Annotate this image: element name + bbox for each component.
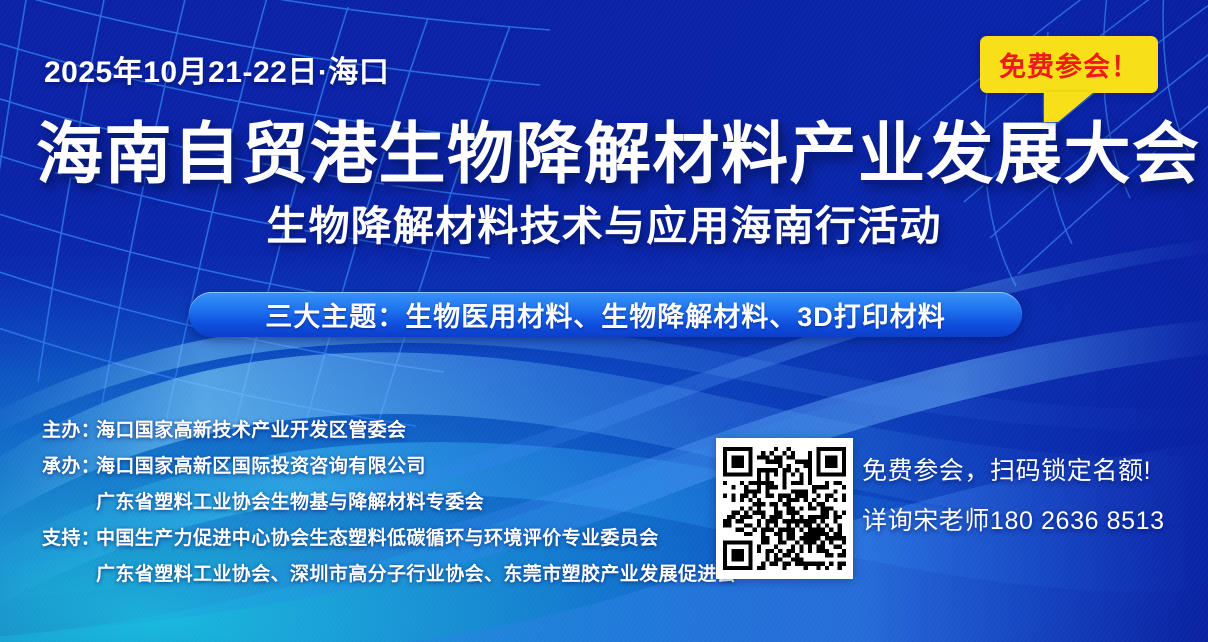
- page-title: 海南自贸港生物降解材料产业发展大会: [36, 121, 1201, 188]
- list-item: 支持： 中国生产力促进中心协会生态塑料低碳循环与环境评价专业委员会: [42, 523, 736, 559]
- organizer-name: 海口国家高新技术产业开发区管委会: [96, 415, 406, 442]
- themes-banner: 三大主题：生物医用材料、生物降解材料、3D打印材料: [189, 292, 1022, 337]
- organizers-list: 主办： 海口国家高新技术产业开发区管委会 承办： 海口国家高新区国际投资咨询有限…: [42, 415, 736, 595]
- free-admission-badge-label: 免费参会！: [999, 45, 1139, 84]
- organizer-name: 广东省塑料工业协会生物基与降解材料专委会: [96, 487, 484, 514]
- cta-phone-text: 详询宋老师180 2636 8513: [862, 509, 1165, 534]
- list-item: 主办： 海口国家高新技术产业开发区管委会: [42, 415, 736, 451]
- organizer-name: 中国生产力促进中心协会生态塑料低碳循环与环境评价专业委员会: [96, 523, 659, 550]
- badge-tail-icon: [1044, 92, 1094, 122]
- list-item: 承办： 海口国家高新区国际投资咨询有限公司: [42, 451, 736, 487]
- organizer-label: 主办：: [42, 415, 96, 442]
- cta-scan-text: 免费参会，扫码锁定名额!: [862, 459, 1165, 484]
- contact-info: 免费参会，扫码锁定名额! 详询宋老师180 2636 8513: [862, 459, 1165, 534]
- organizer-label: 支持：: [42, 523, 96, 550]
- organizer-name: 广东省塑料工业协会、深圳市高分子行业协会、东莞市塑胶产业发展促进会: [96, 559, 736, 586]
- themes-banner-label: 三大主题：生物医用材料、生物降解材料、3D打印材料: [265, 295, 946, 334]
- list-item: 广东省塑料工业协会、深圳市高分子行业协会、东莞市塑胶产业发展促进会: [42, 559, 736, 595]
- event-date-location: 2025年10月21-22日·海口: [44, 47, 389, 91]
- organizer-label: 承办：: [42, 451, 96, 478]
- free-admission-badge: 免费参会！: [980, 36, 1158, 93]
- list-item: 广东省塑料工业协会生物基与降解材料专委会: [42, 487, 736, 523]
- organizer-name: 海口国家高新区国际投资咨询有限公司: [96, 451, 426, 478]
- page-subtitle: 生物降解材料技术与应用海南行活动: [0, 206, 1208, 247]
- conference-banner: 2025年10月21-22日·海口 海南自贸港生物降解材料产业发展大会 生物降解…: [0, 0, 1208, 642]
- qr-code-icon[interactable]: [716, 438, 853, 579]
